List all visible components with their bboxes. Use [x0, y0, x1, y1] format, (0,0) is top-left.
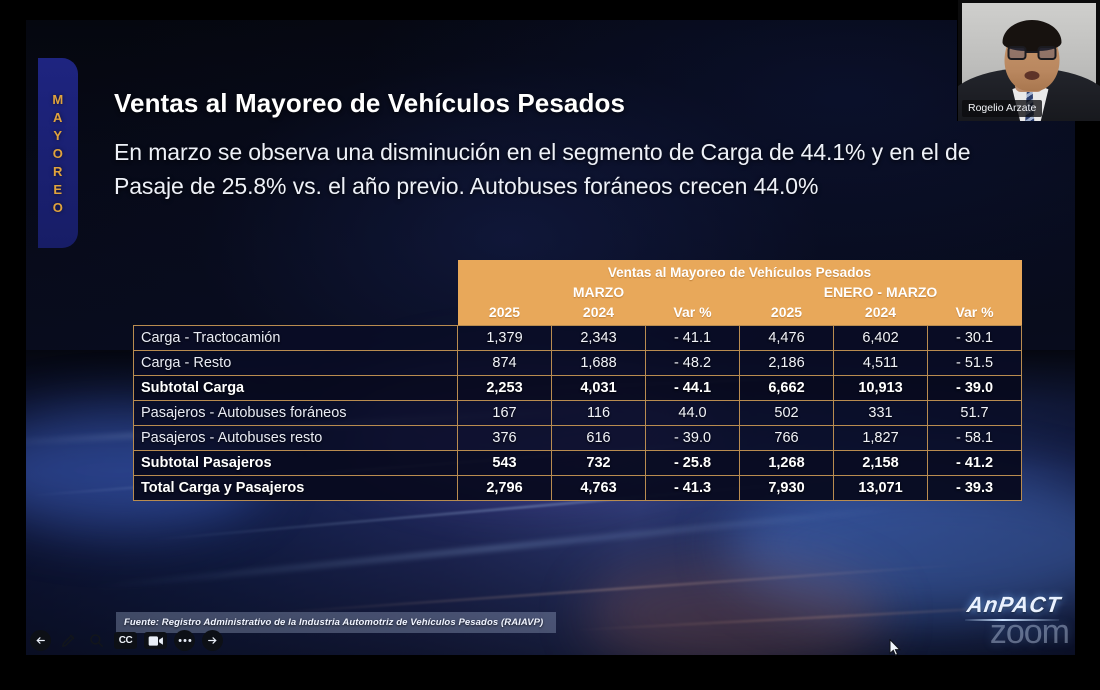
row-label: Pasajeros - Autobuses resto: [134, 425, 458, 450]
table-row: Pasajeros - Autobuses foráneos 167 116 4…: [134, 400, 1022, 425]
cell-value: 331: [834, 400, 928, 425]
tab-letter: Y: [53, 129, 62, 142]
table-row: Carga - Resto 874 1,688 - 48.2 2,186 4,5…: [134, 350, 1022, 375]
row-label: Subtotal Pasajeros: [134, 450, 458, 475]
sales-table-container: Ventas al Mayoreo de Vehículos Pesados M…: [133, 260, 1021, 501]
cell-value: - 30.1: [928, 325, 1022, 350]
table-column-row: 2025 2024 Var % 2025 2024 Var %: [134, 302, 1022, 325]
group-header-enero-marzo: ENERO - MARZO: [740, 281, 1022, 302]
cell-value: 2,253: [458, 375, 552, 400]
cell-value: 167: [458, 400, 552, 425]
table-head: Ventas al Mayoreo de Vehículos Pesados M…: [134, 260, 1022, 325]
cell-value: - 48.2: [646, 350, 740, 375]
cell-value: 2,343: [552, 325, 646, 350]
table-body: Carga - Tractocamión 1,379 2,343 - 41.1 …: [134, 325, 1022, 500]
cell-value: 44.0: [646, 400, 740, 425]
cell-value: 1,827: [834, 425, 928, 450]
cell-value: 766: [740, 425, 834, 450]
row-label: Carga - Resto: [134, 350, 458, 375]
slide-subtitle: En marzo se observa una disminución en e…: [114, 135, 1044, 203]
closed-captions-button[interactable]: CC: [114, 632, 137, 649]
row-label: Subtotal Carga: [134, 375, 458, 400]
column-header: 2024: [552, 302, 646, 325]
column-header: Var %: [928, 302, 1022, 325]
presentation-slide: M A Y O R E O Ventas al Mayoreo de Vehíc…: [26, 20, 1075, 655]
cell-value: - 25.8: [646, 450, 740, 475]
cell-value: 4,511: [834, 350, 928, 375]
cell-value: 543: [458, 450, 552, 475]
cell-value: 2,158: [834, 450, 928, 475]
section-tab-mayoreo: M A Y O R E O: [38, 58, 78, 248]
cell-value: - 41.2: [928, 450, 1022, 475]
table-row: Total Carga y Pasajeros 2,796 4,763 - 41…: [134, 475, 1022, 500]
cell-value: 616: [552, 425, 646, 450]
table-banner-row: Ventas al Mayoreo de Vehículos Pesados: [134, 260, 1022, 281]
column-header: Var %: [646, 302, 740, 325]
column-header: 2025: [740, 302, 834, 325]
ellipsis-icon: [178, 638, 192, 643]
more-options-button[interactable]: [174, 630, 195, 651]
table-row: Subtotal Carga 2,253 4,031 - 44.1 6,662 …: [134, 375, 1022, 400]
cell-value: - 39.0: [646, 425, 740, 450]
cell-value: - 39.3: [928, 475, 1022, 500]
cell-value: 874: [458, 350, 552, 375]
table-row: Carga - Tractocamión 1,379 2,343 - 41.1 …: [134, 325, 1022, 350]
tab-letter: O: [53, 147, 64, 160]
row-label: Carga - Tractocamión: [134, 325, 458, 350]
row-label: Pasajeros - Autobuses foráneos: [134, 400, 458, 425]
next-slide-button[interactable]: [202, 630, 223, 651]
cell-value: 376: [458, 425, 552, 450]
tab-letter: R: [53, 165, 63, 178]
cell-value: 116: [552, 400, 646, 425]
cell-value: - 39.0: [928, 375, 1022, 400]
mouse-cursor: [889, 639, 901, 657]
participant-video-tile[interactable]: Rogelio Arzate: [957, 0, 1100, 121]
video-camera-icon: [148, 635, 164, 647]
cell-value: 6,402: [834, 325, 928, 350]
cell-value: 13,071: [834, 475, 928, 500]
banner-spacer: [134, 260, 458, 281]
table-group-row: MARZO ENERO - MARZO: [134, 281, 1022, 302]
column-header: 2024: [834, 302, 928, 325]
cell-value: 1,688: [552, 350, 646, 375]
pen-icon: [60, 632, 77, 649]
annotate-button[interactable]: [58, 630, 79, 651]
cell-value: 10,913: [834, 375, 928, 400]
cell-value: 732: [552, 450, 646, 475]
arrow-right-icon: [206, 634, 219, 647]
cc-icon: CC: [119, 635, 132, 646]
group-spacer: [134, 281, 458, 302]
cell-value: 1,379: [458, 325, 552, 350]
tab-letter: O: [53, 201, 64, 214]
screen: M A Y O R E O Ventas al Mayoreo de Vehíc…: [0, 0, 1100, 690]
cell-value: 51.7: [928, 400, 1022, 425]
glasses-icon: [1007, 46, 1056, 60]
cell-value: 2,186: [740, 350, 834, 375]
column-spacer: [134, 302, 458, 325]
group-header-marzo: MARZO: [458, 281, 740, 302]
participant-name-label: Rogelio Arzate: [962, 100, 1042, 117]
zoom-watermark: zoom: [990, 615, 1069, 649]
source-note-text: Fuente: Registro Administrativo de la In…: [124, 617, 543, 628]
tab-letter: M: [52, 93, 63, 106]
cell-value: 6,662: [740, 375, 834, 400]
table-row: Subtotal Pasajeros 543 732 - 25.8 1,268 …: [134, 450, 1022, 475]
previous-slide-button[interactable]: [30, 630, 51, 651]
arrow-left-icon: [34, 634, 47, 647]
cell-value: 1,268: [740, 450, 834, 475]
cell-value: - 41.3: [646, 475, 740, 500]
row-label: Total Carga y Pasajeros: [134, 475, 458, 500]
table-banner: Ventas al Mayoreo de Vehículos Pesados: [458, 260, 1022, 281]
tab-letter: A: [53, 111, 63, 124]
cell-value: 2,796: [458, 475, 552, 500]
cell-value: - 44.1: [646, 375, 740, 400]
tab-letter: E: [53, 183, 62, 196]
table-row: Pasajeros - Autobuses resto 376 616 - 39…: [134, 425, 1022, 450]
cell-value: - 51.5: [928, 350, 1022, 375]
column-header: 2025: [458, 302, 552, 325]
cell-value: 4,763: [552, 475, 646, 500]
cell-value: 4,031: [552, 375, 646, 400]
cell-value: - 58.1: [928, 425, 1022, 450]
cell-value: 4,476: [740, 325, 834, 350]
video-button[interactable]: [144, 632, 167, 649]
magnifier-icon: [88, 632, 105, 649]
slide-title: Ventas al Mayoreo de Vehículos Pesados: [114, 88, 625, 119]
sales-table: Ventas al Mayoreo de Vehículos Pesados M…: [133, 260, 1022, 501]
cell-value: 502: [740, 400, 834, 425]
cell-value: - 41.1: [646, 325, 740, 350]
cell-value: 7,930: [740, 475, 834, 500]
mouth-shape: [1024, 71, 1039, 80]
zoom-in-button[interactable]: [86, 630, 107, 651]
slide-control-bar: CC: [30, 630, 223, 651]
